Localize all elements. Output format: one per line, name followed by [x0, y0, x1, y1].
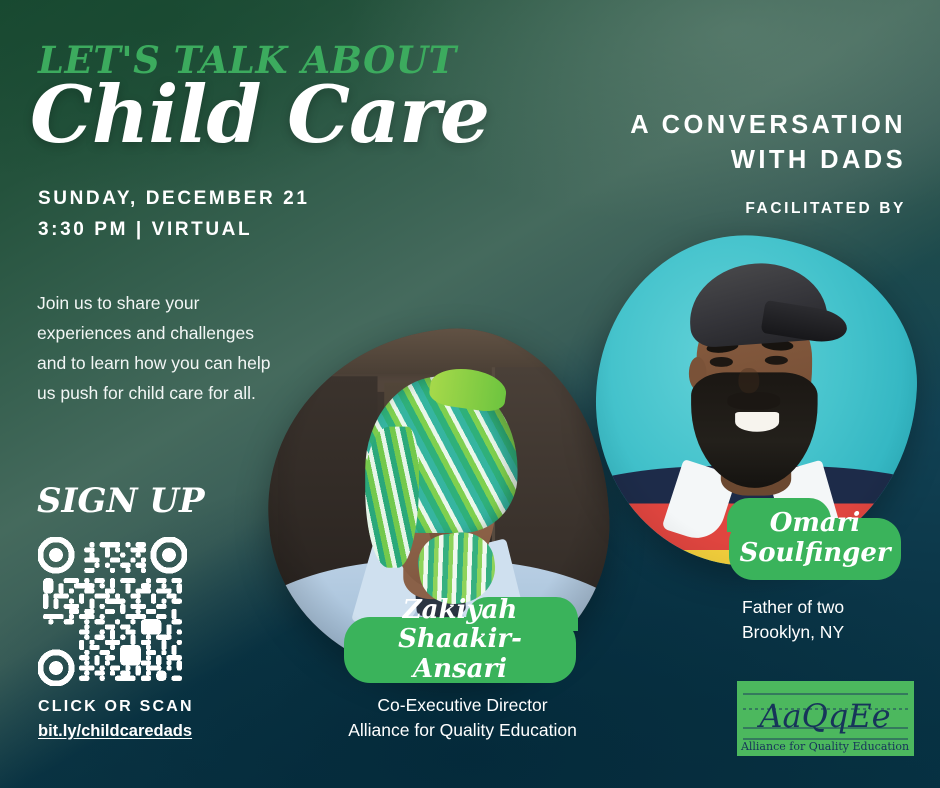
event-description: Join us to share your experiences and ch…	[37, 288, 277, 408]
omari-name-line1: Omari	[739, 509, 891, 539]
click-or-scan-label: CLICK OR SCAN	[38, 698, 194, 716]
conversation-heading: A CONVERSATION WITH DADS	[630, 108, 906, 178]
facilitated-by-label: FACILITATED BY	[745, 200, 906, 218]
qr-code[interactable]	[38, 537, 187, 686]
speaker-name-badge-omari: Omari Soulfinger	[729, 518, 901, 580]
signup-heading: SIGN UP	[37, 481, 205, 521]
logo-tagline: Alliance for Quality Education	[740, 740, 909, 753]
aqe-logo: AaQqEe Alliance for Quality Education	[737, 681, 914, 756]
zakiyah-name-line2: Shaakir-Ansari	[354, 625, 566, 684]
event-date: SUNDAY, DECEMBER 21	[38, 188, 309, 210]
page-title: Child Care	[30, 76, 489, 153]
signup-link[interactable]: bit.ly/childcaredads	[38, 722, 192, 741]
omari-name-line2: Soulfinger	[739, 539, 891, 569]
speaker-caption-omari: Father of two Brooklyn, NY	[742, 595, 932, 645]
event-flyer: LET'S TALK ABOUT Child Care SUNDAY, DECE…	[0, 0, 940, 788]
logo-script-text: AaQqEe	[756, 697, 890, 735]
zakiyah-name-line1: Zakiyah	[354, 596, 566, 626]
speaker-caption-zakiyah: Co-Executive Director Alliance for Quali…	[300, 693, 625, 743]
speaker-name-badge-zakiyah: Zakiyah Shaakir-Ansari	[344, 617, 576, 683]
event-time: 3:30 PM | VIRTUAL	[38, 219, 252, 241]
